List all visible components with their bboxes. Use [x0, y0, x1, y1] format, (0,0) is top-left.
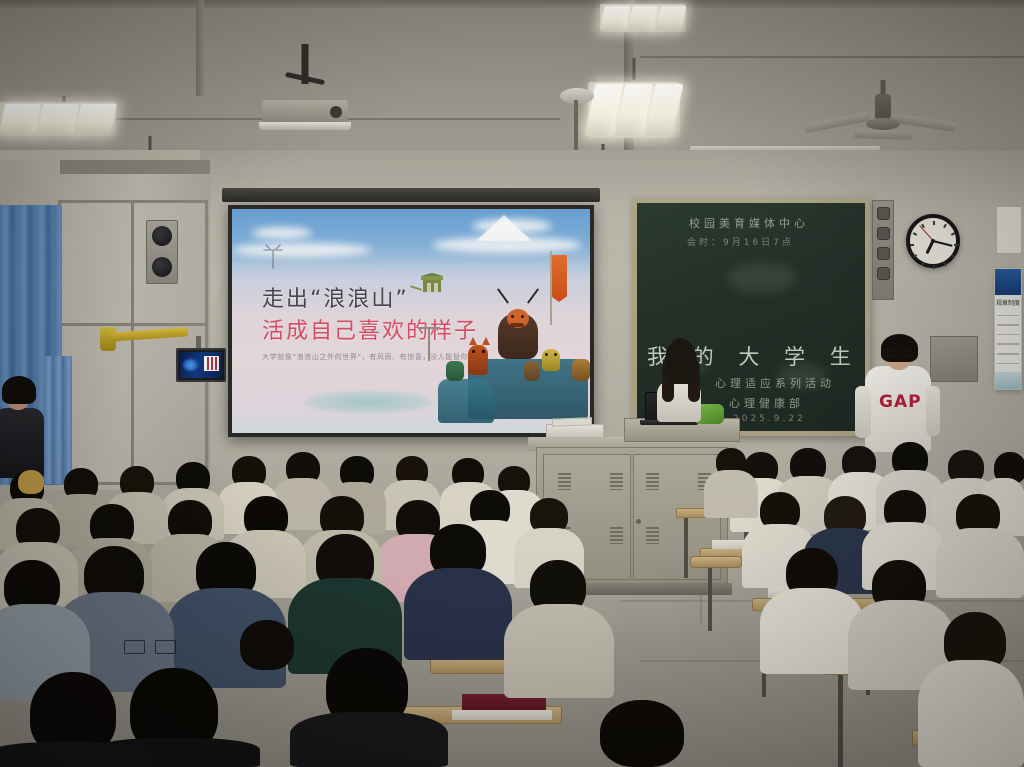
ceiling-beam	[196, 0, 204, 96]
shirt-text: GAP	[879, 392, 919, 410]
stack-of-papers	[552, 417, 592, 426]
qr-code-icon	[204, 356, 219, 371]
wall-box	[930, 336, 978, 382]
character-extra	[524, 361, 540, 381]
presentation-slide: 走出“浪浪山” 活成自己喜欢的样子 大学就像“浪浪山之外的世界”，有风雨、有惊喜…	[232, 209, 590, 433]
wall-clock	[906, 214, 960, 268]
poster-title: 规章制度	[995, 298, 1021, 307]
ceiling-fan	[828, 94, 938, 140]
slide-lake	[304, 391, 432, 413]
wall-poster: 规章制度	[994, 268, 1022, 390]
ceiling-seam	[640, 56, 1024, 58]
ceiling-beam	[0, 0, 1024, 8]
projection-screen: 走出“浪浪山” 活成自己喜欢的样子 大学就像“浪浪山之外的世界”，有风雨、有惊喜…	[228, 205, 594, 437]
window-curtain	[44, 356, 72, 484]
white-notebook	[452, 710, 552, 720]
blackboard-subline-2: 心理健康部	[729, 395, 804, 411]
slide-logo-icon	[260, 241, 286, 271]
classroom-photo: 校园美育媒体中心 会时：9月16日7点 我 的 大 学 生 活 心理适应系列活动…	[0, 0, 1024, 767]
character-extra	[446, 361, 464, 381]
character-extra	[572, 359, 590, 381]
blackboard-date: 2025.9.22	[733, 414, 806, 424]
glasses-icon	[884, 350, 912, 357]
glasses-icon	[124, 640, 176, 654]
slide-subtitle: 大学就像“浪浪山之外的世界”，有风雨、有惊喜，没人能替你走	[262, 352, 476, 362]
blackboard-line-top2: 会时：9月16日7点	[687, 235, 794, 248]
chair-back	[690, 556, 742, 568]
slide-title-line1: 走出“浪浪山”	[262, 281, 409, 313]
wall-notice	[996, 206, 1022, 254]
desk-leg	[708, 559, 712, 631]
slide-title-line2: 活成自己喜欢的样子	[262, 313, 478, 345]
glasses-icon	[668, 354, 692, 360]
desk-leg	[684, 518, 688, 578]
ceiling-light-fixture	[0, 96, 116, 136]
blackboard-line-top: 校园美育媒体中心	[689, 215, 809, 231]
wall-trim	[60, 160, 210, 174]
screen-roller	[222, 188, 600, 202]
wall-control-panel[interactable]	[872, 200, 894, 300]
character-fox	[468, 345, 488, 375]
slide-banner	[552, 255, 567, 297]
ceiling-projector	[262, 82, 348, 132]
wall-monitor	[176, 348, 226, 382]
desk-leg	[838, 675, 843, 767]
window-frame	[58, 200, 208, 485]
temple-icon	[420, 273, 444, 295]
blackboard-subline-1: 心理适应系列活动	[715, 375, 835, 391]
ceiling-light-fixture	[588, 76, 680, 138]
wall-speaker	[146, 220, 178, 284]
ceiling-light-fixture	[600, 0, 686, 32]
